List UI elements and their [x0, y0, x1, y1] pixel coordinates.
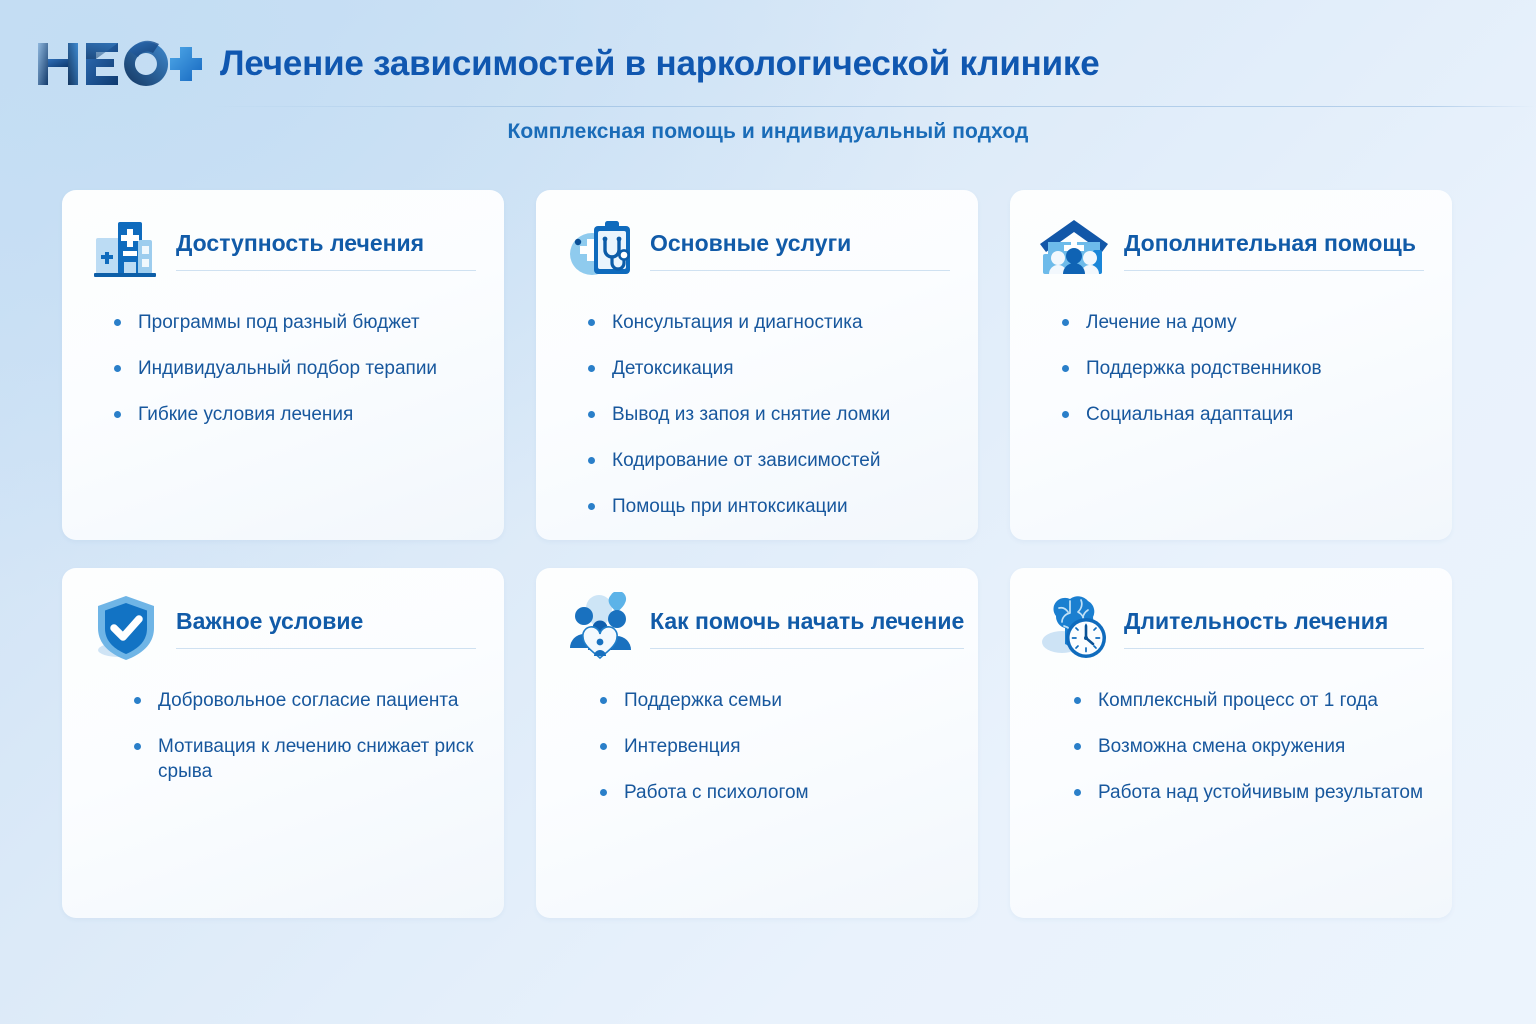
card-treatment-availability[interactable]: Доступность лечения Программы под разный… [62, 190, 504, 540]
card-header-text: Дополнительная помощь [1124, 216, 1424, 271]
list-item: Возможна смена окружения [1072, 734, 1424, 759]
card-header-text: Важное условие [176, 594, 476, 649]
card-title: Длительность лечения [1124, 608, 1424, 634]
list-item: Консультация и диагностика [586, 310, 950, 335]
card-header: Важное условие [90, 594, 476, 666]
header-row: Лечение зависимостей в наркологической к… [0, 30, 1536, 98]
card-title: Дополнительная помощь [1124, 230, 1424, 256]
brain-clock-icon [1038, 592, 1110, 664]
list-item: Вывод из запоя и снятие ломки [586, 402, 950, 427]
card-divider [176, 648, 476, 649]
card-title: Как помочь начать лечение [650, 608, 964, 634]
list-item: Лечение на дому [1060, 310, 1424, 335]
hospital-building-icon [90, 214, 162, 286]
card-divider [176, 270, 476, 271]
list-item: Комплексный процесс от 1 года [1072, 688, 1424, 713]
card-header-text: Длительность лечения [1124, 594, 1424, 649]
card-bullet-list: Консультация и диагностика Детоксикация … [564, 310, 950, 519]
list-item: Поддержка семьи [598, 688, 950, 713]
card-header-text: Как помочь начать лечение [650, 594, 964, 649]
card-bullet-list: Программы под разный бюджет Индивидуальн… [90, 310, 476, 427]
card-title: Важное условие [176, 608, 476, 634]
card-bullet-list: Лечение на дому Поддержка родственников … [1038, 310, 1424, 427]
card-divider [1124, 648, 1424, 649]
card-divider [650, 648, 964, 649]
card-main-services[interactable]: Основные услуги Консультация и диагности… [536, 190, 978, 540]
list-item: Кодирование от зависимостей [586, 448, 950, 473]
list-item: Добровольное согласие пациента [132, 688, 476, 713]
list-item: Гибкие условия лечения [112, 402, 476, 427]
list-item: Помощь при интоксикации [586, 494, 950, 519]
card-header: Основные услуги [564, 216, 950, 288]
card-bullet-list: Комплексный процесс от 1 года Возможна с… [1038, 688, 1424, 805]
card-header: Как помочь начать лечение [564, 594, 950, 666]
card-bullet-list: Поддержка семьи Интервенция Работа с пси… [564, 688, 950, 805]
card-how-to-start-treatment[interactable]: Как помочь начать лечение Поддержка семь… [536, 568, 978, 918]
list-item: Программы под разный бюджет [112, 310, 476, 335]
card-title: Основные услуги [650, 230, 950, 256]
list-item: Мотивация к лечению снижает риск срыва [132, 734, 476, 784]
neo-plus-logo [34, 37, 202, 91]
card-additional-help[interactable]: Дополнительная помощь Лечение на дому По… [1010, 190, 1452, 540]
card-header: Доступность лечения [90, 216, 476, 288]
card-bullet-list: Добровольное согласие пациента Мотивация… [90, 688, 476, 784]
page-title: Лечение зависимостей в наркологической к… [220, 44, 1100, 84]
card-header-text: Доступность лечения [176, 216, 476, 271]
list-item: Интервенция [598, 734, 950, 759]
card-header-text: Основные услуги [650, 216, 950, 271]
card-divider [650, 270, 950, 271]
page-subtitle: Комплексная помощь и индивидуальный подх… [0, 120, 1536, 144]
list-item: Работа над устойчивым результатом [1072, 780, 1424, 805]
header-divider [210, 106, 1536, 107]
card-header: Длительность лечения [1038, 594, 1424, 666]
card-treatment-duration[interactable]: Длительность лечения Комплексный процесс… [1010, 568, 1452, 918]
cards-grid: Доступность лечения Программы под разный… [62, 190, 1474, 918]
page-header: Лечение зависимостей в наркологической к… [0, 0, 1536, 144]
clipboard-stethoscope-icon [564, 214, 636, 286]
house-family-care-icon [1038, 214, 1110, 286]
card-important-condition[interactable]: Важное условие Добровольное согласие пац… [62, 568, 504, 918]
card-divider [1124, 270, 1424, 271]
family-heart-icon [564, 592, 636, 664]
list-item: Социальная адаптация [1060, 402, 1424, 427]
shield-check-icon [90, 592, 162, 664]
card-title: Доступность лечения [176, 230, 476, 256]
list-item: Индивидуальный подбор терапии [112, 356, 476, 381]
list-item: Поддержка родственников [1060, 356, 1424, 381]
list-item: Работа с психологом [598, 780, 950, 805]
card-header: Дополнительная помощь [1038, 216, 1424, 288]
list-item: Детоксикация [586, 356, 950, 381]
